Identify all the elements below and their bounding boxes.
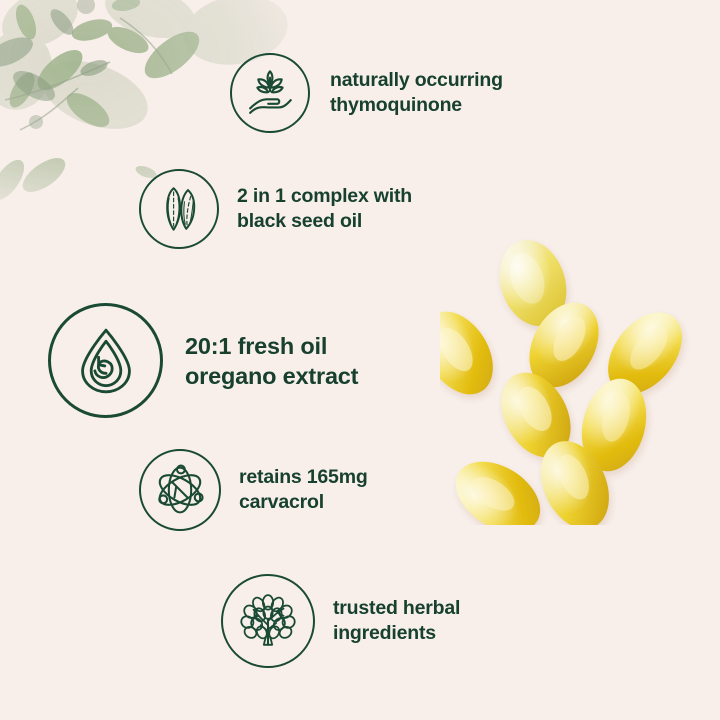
tree-badge [221,574,315,668]
feature-row-black-seed-oil: 2 in 1 complex with black seed oil [139,169,412,249]
feature-row-herbal-ingredients: trusted herbal ingredients [221,574,460,668]
hand-holding-plant-badge [230,53,310,133]
feature-line: naturally occurring [330,68,503,93]
black-seeds-icon [152,182,206,236]
feature-line: 2 in 1 complex with [237,184,412,209]
feature-line: retains 165mg [239,465,368,490]
feature-line: oregano extract [185,361,358,391]
hand-holding-plant-icon [243,66,297,120]
tree-icon [237,590,299,652]
black-seeds-badge [139,169,219,249]
feature-label-carvacrol: retains 165mg carvacrol [239,465,368,515]
feature-line: carvacrol [239,490,368,515]
feature-line: thymoquinone [330,93,503,118]
feature-label-black-seed-oil: 2 in 1 complex with black seed oil [237,184,412,234]
feature-label-oregano-extract: 20:1 fresh oil oregano extract [185,331,358,391]
feature-label-thymoquinone: naturally occurring thymoquinone [330,68,503,118]
feature-label-herbal-ingredients: trusted herbal ingredients [333,596,460,646]
molecule-atom-badge [139,449,221,531]
feature-line: black seed oil [237,209,412,234]
feature-row-oregano-extract: 20:1 fresh oil oregano extract [48,303,358,418]
feature-row-thymoquinone: naturally occurring thymoquinone [230,53,503,133]
feature-line: ingredients [333,621,460,646]
feature-line: 20:1 fresh oil [185,331,358,361]
molecule-atom-icon [152,462,208,518]
softgel-capsules-image [440,235,720,525]
oil-droplet-badge [48,303,163,418]
feature-row-carvacrol: retains 165mg carvacrol [139,449,368,531]
oil-droplet-icon [69,324,143,398]
feature-line: trusted herbal [333,596,460,621]
